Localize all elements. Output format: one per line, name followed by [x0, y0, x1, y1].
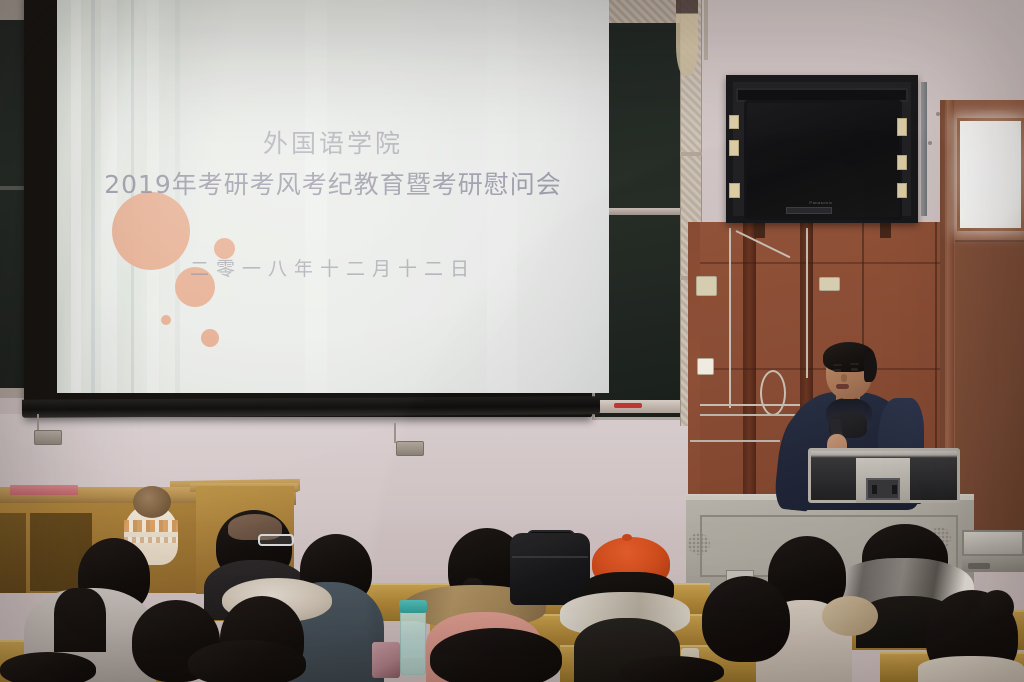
bracket-tape-tab — [897, 155, 907, 170]
wood-batten — [743, 222, 756, 522]
lecture-hall-photograph: 外国语学院 2019年考研考风考纪教育暨考研慰问会 二零一八年十二月十二日 — [0, 0, 1024, 682]
left-ceiling-trim — [0, 0, 24, 20]
av-cable — [690, 440, 780, 442]
mount-screw — [892, 485, 897, 494]
black-backpack[interactable] — [510, 533, 590, 605]
front-desk-shadow-panel — [0, 513, 26, 593]
bracket-tape-tab — [729, 183, 740, 198]
pink-folder-on-desk[interactable] — [10, 485, 78, 495]
bracket-tape-tab — [729, 115, 739, 129]
door-window-pane — [957, 118, 1024, 231]
eyeglasses — [258, 534, 294, 546]
audience-head — [702, 576, 790, 662]
speaker-cable — [394, 423, 396, 443]
power-outlet[interactable] — [696, 276, 717, 296]
presenter-hair-side — [864, 352, 877, 382]
presenter-nose — [841, 374, 847, 382]
backpack-seam — [512, 556, 588, 558]
av-cable — [729, 228, 731, 408]
hat-pompom — [133, 486, 171, 518]
hanging-bag — [676, 0, 698, 76]
av-cable — [806, 228, 808, 378]
audience-head — [188, 640, 306, 682]
tv-bracket-leg — [754, 222, 765, 238]
bottle-label — [402, 640, 424, 658]
knit-hat-pattern-band — [124, 537, 178, 543]
power-outlet[interactable] — [697, 358, 714, 375]
red-chalk-marker — [614, 403, 642, 408]
presenter-eye — [851, 368, 858, 371]
audience-hair-bun — [980, 590, 1014, 624]
tv-control-panel[interactable] — [786, 207, 832, 214]
power-outlet[interactable] — [819, 277, 840, 291]
audience-head — [0, 652, 96, 682]
wall-nail — [928, 141, 932, 145]
projection-vignette — [57, 0, 609, 393]
av-cable — [700, 404, 800, 406]
audience-head — [430, 628, 562, 682]
drawer-handle[interactable] — [968, 563, 990, 569]
presenter-eye — [834, 369, 841, 372]
bracket-tape-tab — [897, 183, 907, 198]
audience-coat-light — [918, 656, 1024, 682]
audience-hair-long — [54, 588, 106, 652]
projector-screen-bottom-bar — [22, 396, 600, 418]
pencil-pouch[interactable] — [372, 642, 400, 678]
door-lower-panel — [955, 240, 1024, 530]
knit-hat-pattern-band — [124, 520, 178, 532]
presenter-mouth — [836, 384, 849, 389]
bracket-tape-tab — [897, 118, 907, 136]
lectern-speaker-grille — [688, 533, 710, 555]
presenter-eyebrow — [850, 363, 859, 365]
projector-screen-frame: 外国语学院 2019年考研考风考纪教育暨考研慰问会 二零一八年十二月十二日 — [24, 0, 592, 417]
beret-nub — [622, 534, 632, 541]
podium-monitor-vesa-mount — [866, 478, 900, 500]
projector-screen-surface: 外国语学院 2019年考研考风考纪教育暨考研慰问会 二零一八年十二月十二日 — [57, 0, 609, 393]
pipe-joint — [680, 152, 702, 156]
bracket-tape-tab — [729, 140, 739, 156]
audience-head — [620, 656, 724, 682]
lectern-side-drawer[interactable] — [962, 530, 1024, 556]
presenter-eyebrow — [833, 364, 842, 366]
fur-hood-trim-tan — [822, 596, 878, 636]
mount-screw — [872, 485, 877, 494]
wall-speaker-right — [396, 441, 424, 456]
thin-conduit — [704, 0, 708, 60]
tv-brand-label: Panasonic — [752, 200, 890, 205]
tv-mount-rail — [921, 82, 927, 216]
tv-bracket-leg — [880, 222, 891, 238]
wall-speaker-left — [34, 430, 62, 445]
av-cable-loop — [760, 370, 786, 416]
bottle-cap[interactable] — [399, 600, 427, 613]
